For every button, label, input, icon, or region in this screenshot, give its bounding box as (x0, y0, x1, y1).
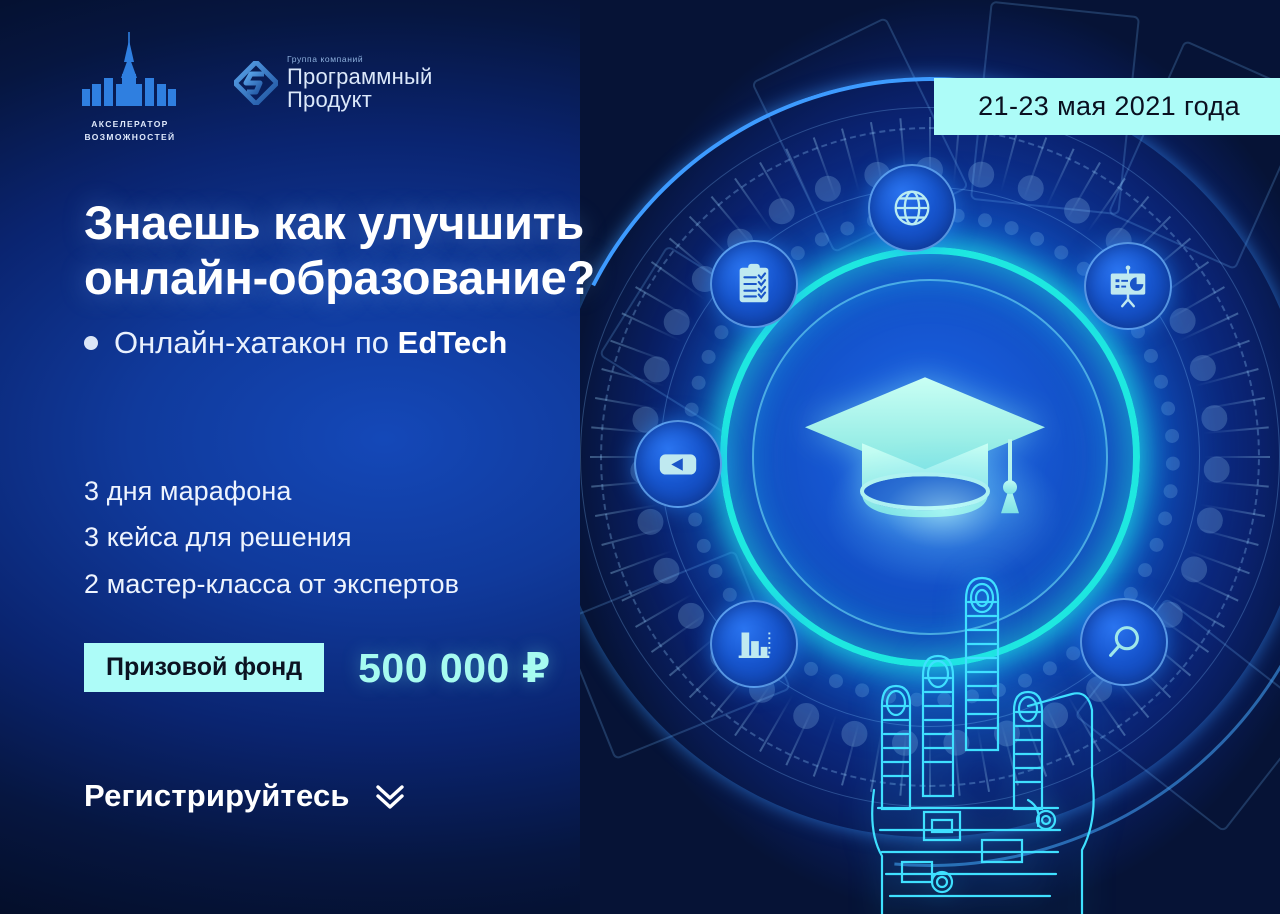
prize-block: Призовой фонд 500 000 ₽ (84, 643, 551, 692)
register-label: Регистрируйтесь (84, 778, 350, 814)
search-icon[interactable] (1080, 598, 1168, 686)
subtitle: Онлайн-хатакон по EdTech (84, 325, 684, 361)
bullet-dot-icon (84, 336, 98, 350)
globe-icon[interactable] (868, 164, 956, 252)
msu-tower-icon (78, 32, 182, 114)
bar-chart-icon[interactable] (710, 600, 798, 688)
promo-poster: АКСЕЛЕРАТОР ВОЗМОЖНОСТЕЙ Гр (0, 0, 1280, 914)
logo-accelerator-line2: ВОЗМОЖНОСТЕЙ (85, 131, 176, 144)
double-chevron-down-icon[interactable] (372, 781, 408, 811)
logo-programmny-product-words: Группа компаний Программный Продукт (287, 54, 432, 112)
feature-list: 3 дня марафона 3 кейса для решения 2 мас… (84, 468, 459, 607)
list-item: 2 мастер-класса от экспертов (84, 561, 459, 607)
logo-accelerator-line1: АКСЕЛЕРАТОР (85, 118, 176, 131)
logo-accelerator: АКСЕЛЕРАТОР ВОЗМОЖНОСТЕЙ (78, 32, 182, 144)
clipboard-icon[interactable] (710, 240, 798, 328)
video-icon[interactable] (634, 420, 722, 508)
register-cta[interactable]: Регистрируйтесь (84, 778, 408, 814)
rhombus-logo-icon (234, 61, 278, 105)
logo-programmny-product: Группа компаний Программный Продукт (234, 32, 432, 112)
prize-amount: 500 000 ₽ (358, 644, 551, 692)
subtitle-prefix: Онлайн-хатакон по (114, 325, 398, 360)
subtitle-strong: EdTech (398, 325, 508, 360)
list-item: 3 кейса для решения (84, 514, 459, 560)
page-title: Знаешь как улучшить онлайн-образование? (84, 196, 684, 305)
headline-block: Знаешь как улучшить онлайн-образование? … (84, 196, 684, 361)
logo-pp-kicker: Группа компаний (287, 54, 432, 64)
wireframe-pointing-hand-icon (832, 490, 1132, 914)
list-item: 3 дня марафона (84, 468, 459, 514)
prize-fund-badge: Призовой фонд (84, 643, 324, 692)
logo-pp-line1: Программный (287, 65, 432, 88)
logo-row: АКСЕЛЕРАТОР ВОЗМОЖНОСТЕЙ Гр (78, 32, 432, 144)
date-badge: 21-23 мая 2021 года (934, 78, 1280, 135)
logo-pp-line2: Продукт (287, 88, 432, 111)
tech-artwork (580, 0, 1280, 914)
presentation-icon[interactable] (1084, 242, 1172, 330)
logo-accelerator-caption: АКСЕЛЕРАТОР ВОЗМОЖНОСТЕЙ (85, 118, 176, 144)
